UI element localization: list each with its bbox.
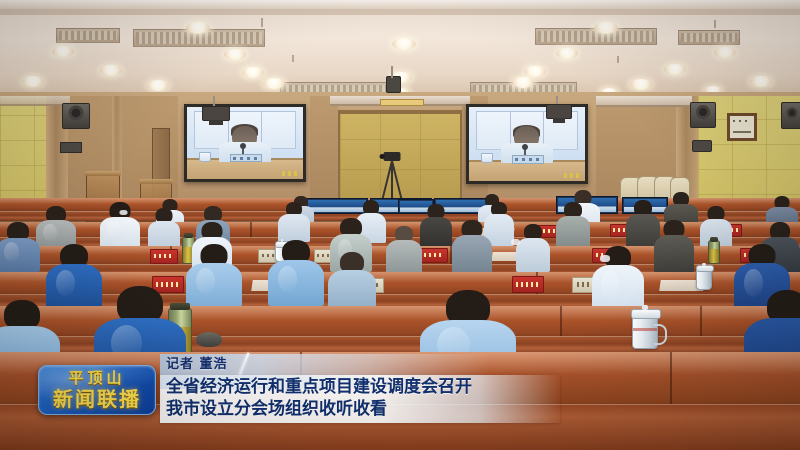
attendee-torso <box>386 240 422 274</box>
attendee <box>516 224 550 270</box>
wall-valance-right <box>596 96 692 107</box>
podium-top <box>139 179 173 184</box>
face-mask <box>511 239 520 245</box>
attendee <box>654 220 694 270</box>
desk-seam <box>560 306 562 336</box>
teacup-knob <box>642 305 648 310</box>
face-mask <box>600 255 609 261</box>
ceiling-beam-shadow <box>0 9 800 15</box>
attendee <box>420 204 452 248</box>
tea-liquid <box>709 249 719 263</box>
face-mask <box>119 210 128 215</box>
ceiling-downlight <box>224 49 246 60</box>
attendee <box>186 244 242 304</box>
attendee <box>328 252 376 308</box>
attendee <box>452 220 492 270</box>
reporter-label: 记者 董浩 <box>166 355 228 374</box>
ceiling-downlight <box>52 46 74 57</box>
screen-broadcast-watermark <box>282 171 298 176</box>
desk-seam <box>670 352 672 404</box>
attendee-torso <box>100 217 140 247</box>
teacup-knob <box>702 263 705 266</box>
screen-broadcast-watermark <box>564 173 580 178</box>
ceiling-downlight <box>263 78 285 89</box>
tea-bottle <box>708 240 720 264</box>
ceiling-beam <box>0 0 800 9</box>
attendee-torso <box>516 238 550 272</box>
av-equipment-right <box>692 140 712 152</box>
wall-speaker-right <box>690 102 716 128</box>
attendee <box>100 202 140 246</box>
screen-nameplate <box>230 154 262 162</box>
attendee-torso <box>592 265 644 311</box>
attendee-torso <box>268 260 324 306</box>
ceiling-downlight <box>147 80 169 91</box>
attendee-torso <box>278 214 310 242</box>
ceiling-vent <box>56 28 120 43</box>
attendee <box>268 240 324 304</box>
attendee <box>0 222 40 270</box>
headline-line-1: 全省经济运行和重点项目建设调度会召开 <box>166 379 472 396</box>
attendee-torso <box>654 235 694 273</box>
ceiling-rod <box>292 55 294 62</box>
attendee <box>278 202 310 242</box>
ceiling-downlight <box>630 79 652 90</box>
ceiling-downlight <box>524 66 546 77</box>
attendee-torso <box>186 263 242 307</box>
ceiling-projector-left <box>202 106 230 121</box>
name-card <box>150 249 178 264</box>
screen-nameplate <box>512 155 544 164</box>
teacup-lid <box>696 265 715 272</box>
ceiling-projector-right <box>546 104 572 119</box>
wall-framed-picture <box>727 113 757 141</box>
wall-speaker-left <box>62 103 90 129</box>
channel-logo-program: 新闻联播 <box>53 389 141 409</box>
ceiling-downlight <box>664 64 686 75</box>
attendee-torso <box>0 238 40 272</box>
attendee <box>36 206 76 248</box>
attendee-torso <box>420 217 452 249</box>
desk-seam <box>700 306 702 336</box>
av-equipment-left <box>60 142 82 153</box>
wall-light-strip <box>380 99 424 106</box>
attendee <box>148 208 180 248</box>
ceiling-downlight <box>750 76 772 87</box>
name-card <box>420 248 448 263</box>
desk-seam <box>250 222 252 237</box>
headline-line-2: 我市设立分会场组织收听收看 <box>166 401 387 418</box>
attendee <box>386 226 422 272</box>
channel-logo-city: 平顶山 <box>68 371 125 386</box>
wall-valance-left <box>0 96 70 106</box>
ceiling-rod <box>714 20 716 28</box>
ceiling-downlight <box>556 48 578 59</box>
ceiling-rod <box>617 56 619 63</box>
name-card <box>512 276 544 293</box>
ceiling-downlight <box>512 77 534 88</box>
ceiling-downlight <box>100 65 122 76</box>
attendee-torso <box>556 216 590 248</box>
wall-speaker-far-right <box>781 102 800 129</box>
teacup <box>696 268 712 290</box>
ceiling-downlight <box>242 67 264 78</box>
computer-mouse <box>196 332 222 347</box>
ceiling-rod <box>261 18 263 27</box>
ceiling-downlight <box>186 22 210 34</box>
ceiling-downlight <box>22 76 44 87</box>
ceiling-downlight <box>594 22 618 34</box>
attendee-torso <box>452 235 492 273</box>
bottle-cap <box>710 237 719 242</box>
ceiling-downlight <box>392 38 416 50</box>
attendee-torso <box>148 221 180 249</box>
podium-top <box>85 171 121 176</box>
ceiling-vent <box>678 30 740 45</box>
channel-logo: 平顶山 新闻联播 <box>38 365 156 415</box>
screen-teacup <box>199 152 211 162</box>
broadcast-frame: 记者 董浩 全省经济运行和重点项目建设调度会召开 我市设立分会场组织收听收看 平… <box>0 0 800 450</box>
camera-body <box>384 152 401 161</box>
tripod-camera-center <box>380 152 404 202</box>
attendee <box>556 202 590 246</box>
teacup-lid <box>631 309 661 319</box>
attendee-torso <box>328 270 376 310</box>
screen-teacup <box>481 153 493 163</box>
ceiling-dome-camera <box>386 76 401 93</box>
ceiling-camera-rod <box>391 66 393 78</box>
teacup-handle <box>654 324 667 345</box>
attendee <box>592 246 644 308</box>
ceiling-downlight <box>714 47 736 58</box>
